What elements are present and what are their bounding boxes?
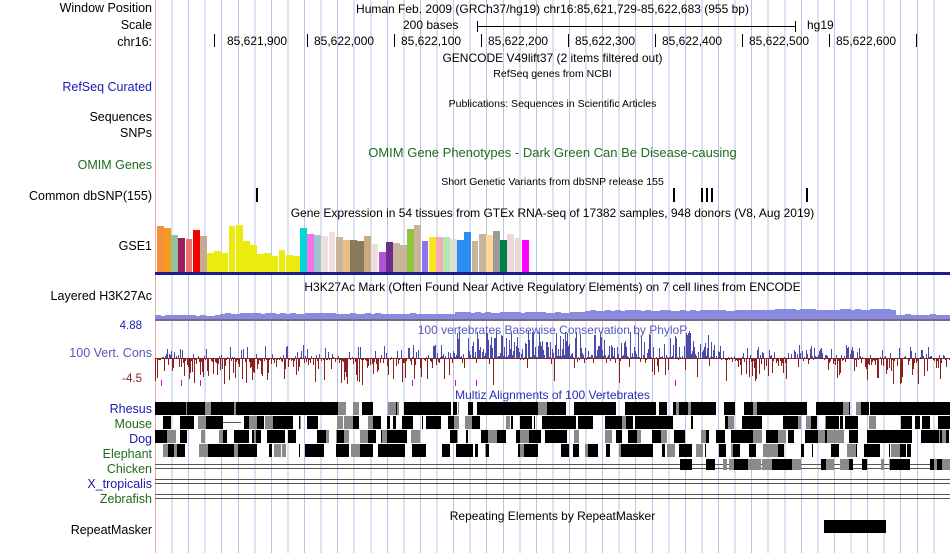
conservation-positive-bar	[514, 342, 515, 358]
conservation-negative-bar	[856, 358, 857, 367]
alignment-block	[907, 444, 911, 457]
track-title-dbsnp: Short Genetic Variants from dbSNP releas…	[155, 176, 950, 188]
alignment-block	[849, 402, 850, 415]
conservation-negative-bar	[229, 358, 230, 380]
gtex-tissue-bar[interactable]	[457, 240, 464, 272]
alignment-block	[324, 402, 331, 415]
gtex-tissue-bar[interactable]	[522, 240, 529, 272]
ruler-tick-label: 85,622,300	[575, 34, 635, 48]
conservation-negative-bar	[254, 358, 255, 373]
conservation-insert-mark	[181, 380, 182, 386]
conservation-positive-bar	[496, 331, 497, 358]
alignment-block	[706, 459, 715, 470]
gtex-tissue-bar[interactable]	[271, 256, 278, 272]
conservation-positive-bar	[802, 351, 803, 358]
conservation-negative-bar	[786, 358, 787, 379]
gtex-tissue-bar[interactable]	[164, 228, 171, 272]
conservation-negative-bar	[668, 358, 669, 370]
conservation-negative-bar	[173, 358, 174, 368]
conservation-positive-bar	[247, 347, 248, 358]
conservation-positive-bar	[506, 338, 507, 358]
conservation-positive-bar	[360, 347, 361, 358]
species-label-chicken[interactable]: Chicken	[2, 463, 152, 476]
alignment-block	[534, 416, 535, 429]
conservation-negative-bar	[213, 358, 214, 374]
alignment-block	[466, 430, 468, 443]
gtex-tissue-bar[interactable]	[243, 241, 250, 272]
gtex-tissue-bar[interactable]	[500, 240, 507, 272]
conservation-negative-bar	[222, 358, 223, 369]
alignment-block	[155, 430, 162, 443]
gtex-tissue-bar[interactable]	[336, 237, 343, 272]
conservation-negative-bar	[357, 358, 358, 381]
track-label-common-dbsnp[interactable]: Common dbSNP(155)	[2, 190, 152, 203]
alignment-block	[155, 402, 164, 415]
alignment-block	[360, 444, 369, 457]
conservation-positive-bar	[747, 348, 748, 358]
alignment-block	[630, 444, 639, 457]
conservation-negative-bar	[239, 358, 240, 367]
conservation-negative-bar	[946, 358, 947, 367]
multiz-species-row-x_tropicalis[interactable]	[155, 474, 950, 485]
gtex-tissue-bar[interactable]	[178, 238, 185, 272]
alignment-block	[384, 444, 392, 457]
gtex-tissue-bar[interactable]	[472, 241, 479, 272]
alignment-block	[915, 416, 920, 429]
gtex-tissue-bar[interactable]	[393, 243, 400, 272]
alignment-block	[511, 416, 513, 429]
conservation-positive-bar	[711, 342, 712, 358]
gtex-tissue-bar[interactable]	[307, 234, 314, 272]
multiz-species-row-rhesus[interactable]	[155, 402, 950, 415]
conservation-negative-bar	[208, 358, 209, 376]
conservation-positive-bar	[899, 348, 900, 358]
gtex-tissue-bar[interactable]	[329, 232, 336, 272]
track-title-publications: Publications: Sequences in Scientific Ar…	[155, 98, 950, 110]
gtex-tissue-bar[interactable]	[314, 235, 321, 272]
alignment-block	[466, 444, 473, 457]
scale-bar-line	[477, 26, 795, 27]
gtex-tissue-bar[interactable]	[386, 242, 393, 272]
conservation-negative-bar	[891, 358, 892, 371]
gtex-tissue-bar[interactable]	[293, 256, 300, 272]
species-label-dog[interactable]: Dog	[2, 433, 152, 446]
conservation-negative-bar	[421, 358, 422, 377]
conservation-positive-bar	[831, 349, 832, 358]
track-label-repeatmasker[interactable]: RepeatMasker	[2, 524, 152, 537]
repeatmasker-element[interactable]	[824, 520, 886, 533]
gtex-tissue-bar[interactable]	[300, 228, 307, 272]
alignment-block	[778, 444, 784, 457]
alignment-block	[447, 444, 450, 457]
alignment-block	[393, 416, 396, 429]
alignment-block	[849, 459, 853, 470]
gtex-tissue-bar[interactable]	[372, 244, 379, 272]
alignment-block	[613, 416, 622, 429]
gtex-tissue-bar[interactable]	[264, 253, 271, 272]
alignment-block	[723, 459, 727, 470]
alignment-block	[628, 430, 637, 443]
conservation-negative-bar	[658, 358, 659, 372]
alignment-block	[789, 402, 797, 415]
track-label-sequences[interactable]: Sequences	[2, 111, 152, 124]
conservation-insert-mark	[412, 380, 413, 386]
alignment-block	[605, 416, 613, 429]
alignment-block	[305, 444, 314, 457]
gtex-tissue-bar[interactable]	[515, 238, 522, 272]
scale-bar-right-cap	[795, 21, 796, 32]
alignment-block	[874, 444, 880, 457]
conservation-negative-bar	[262, 358, 263, 376]
conservation-negative-bar	[233, 358, 234, 373]
conservation-negative-bar	[181, 358, 182, 367]
ruler-tick-mark	[568, 34, 569, 47]
conservation-zero-line	[155, 358, 950, 359]
alignment-block	[163, 416, 171, 429]
species-label-mouse[interactable]: Mouse	[2, 418, 152, 431]
alignment-block	[529, 402, 538, 415]
gtex-tissue-bar[interactable]	[257, 254, 264, 272]
alignment-block	[661, 430, 667, 443]
gtex-tissue-bar[interactable]	[236, 225, 243, 272]
conservation-positive-bar	[676, 338, 677, 358]
gtex-tissue-bar[interactable]	[229, 226, 236, 272]
gtex-tissue-bar[interactable]	[200, 236, 207, 272]
conservation-negative-bar	[554, 358, 555, 381]
alignment-block	[867, 430, 875, 443]
alignment-block	[792, 459, 801, 470]
alignment-block	[892, 402, 899, 415]
conservation-insert-mark	[476, 380, 477, 386]
conservation-negative-bar	[168, 358, 169, 365]
conservation-positive-bar	[384, 346, 385, 358]
alignment-block	[835, 430, 844, 443]
alignment-block	[659, 402, 667, 415]
alignment-block	[714, 402, 716, 415]
gtex-tissue-bar[interactable]	[279, 250, 286, 272]
conservation-positive-bar	[708, 335, 709, 358]
alignment-block	[316, 416, 318, 429]
coordinate-gridlines	[155, 0, 950, 553]
alignment-block	[430, 416, 438, 429]
alignment-block	[294, 430, 296, 443]
conservation-negative-bar	[493, 358, 494, 385]
gtex-tissue-bar[interactable]	[186, 239, 193, 272]
gtex-tissue-bar[interactable]	[529, 261, 536, 272]
alignment-block	[422, 416, 423, 429]
conservation-positive-bar	[459, 332, 460, 358]
alignment-block	[926, 430, 935, 443]
ruler-tick-label: 85,621,900	[227, 34, 287, 48]
conservation-positive-bar	[473, 342, 474, 358]
gtex-tissue-bar[interactable]	[493, 231, 500, 272]
gtex-tissue-bar[interactable]	[414, 225, 421, 272]
ruler-tick-mark	[916, 34, 917, 47]
alignment-block	[397, 402, 399, 415]
conservation-negative-bar	[449, 358, 450, 375]
track-label-chrom: chr16:	[2, 36, 152, 49]
conservation-negative-bar	[393, 358, 394, 379]
coordinate-ruler[interactable]: 85,621,900 85,622,000 85,622,100 85,622,…	[155, 34, 950, 50]
ruler-tick-label: 85,622,000	[314, 34, 374, 48]
alignment-block	[803, 444, 804, 457]
alignment-block	[760, 459, 761, 470]
conservation-positive-bar	[303, 345, 304, 358]
alignment-block	[532, 444, 538, 457]
ruler-tick-mark	[214, 34, 215, 47]
gtex-tissue-bar[interactable]	[157, 226, 164, 272]
ruler-tick-label: 85,622,400	[662, 34, 722, 48]
conservation-positive-bar	[853, 351, 854, 358]
gtex-tissue-bar[interactable]	[379, 252, 386, 272]
alignment-block	[538, 402, 547, 415]
conservation-positive-bar	[435, 345, 436, 358]
conservation-negative-bar	[315, 358, 316, 382]
conservation-positive-bar	[650, 335, 651, 358]
multiz-species-row-chicken[interactable]	[155, 459, 950, 470]
species-label-rhesus[interactable]: Rhesus	[2, 403, 152, 416]
species-label-x-tropicalis[interactable]: X_tropicalis	[2, 478, 152, 491]
dbsnp-variant-tick[interactable]	[806, 188, 808, 202]
alignment-block	[626, 416, 633, 429]
alignment-block	[769, 444, 778, 457]
alignment-block	[468, 402, 473, 415]
gtex-tissue-bar[interactable]	[350, 240, 357, 272]
conservation-negative-bar	[685, 358, 686, 370]
track-label-refseq-curated[interactable]: RefSeq Curated	[2, 81, 152, 94]
alignment-block	[719, 444, 726, 457]
multiz-species-row-dog[interactable]	[155, 430, 950, 443]
gtex-tissue-bar[interactable]	[450, 239, 457, 272]
alignment-block	[367, 402, 373, 415]
conservation-negative-bar	[897, 358, 898, 366]
alignment-block	[847, 444, 856, 457]
conservation-insert-mark	[200, 380, 201, 386]
dbsnp-variant-tick[interactable]	[673, 188, 675, 202]
alignment-block	[180, 416, 188, 429]
track-label-snps[interactable]: SNPs	[2, 127, 152, 140]
alignment-block	[506, 416, 510, 429]
alignment-block	[753, 416, 762, 429]
gtex-tissue-bar[interactable]	[422, 241, 429, 272]
gtex-tissue-bar[interactable]	[443, 237, 450, 272]
alignment-block	[904, 459, 910, 470]
gtex-tissue-bar[interactable]	[207, 253, 214, 272]
alignment-block	[456, 402, 457, 415]
alignment-gap-line	[155, 483, 950, 484]
gtex-tissue-bar[interactable]	[364, 236, 371, 272]
conservation-positive-bar	[673, 345, 674, 358]
alignment-block	[431, 402, 440, 415]
conservation-positive-bar	[653, 347, 654, 358]
conservation-positive-bar	[560, 336, 561, 358]
conservation-positive-bar	[492, 348, 493, 358]
alignment-block	[826, 459, 833, 470]
conservation-positive-bar	[307, 349, 308, 358]
gtex-tissue-bar[interactable]	[486, 235, 493, 272]
conservation-negative-bar	[918, 358, 919, 384]
conservation-positive-bar	[480, 347, 481, 358]
alignment-block	[734, 459, 743, 470]
alignment-block	[201, 430, 205, 443]
alignment-block	[899, 402, 907, 415]
alignment-block	[818, 430, 825, 443]
conservation-negative-bar	[527, 358, 528, 368]
alignment-block	[559, 430, 567, 443]
gtex-expression-barchart[interactable]	[155, 220, 950, 275]
alignment-block	[891, 444, 900, 457]
gtex-tissue-bar[interactable]	[214, 251, 221, 272]
dbsnp-variant-tick[interactable]	[706, 188, 708, 202]
multiz-species-row-elephant[interactable]	[155, 444, 950, 457]
species-label-zebrafish[interactable]: Zebrafish	[2, 493, 152, 506]
alignment-block	[935, 402, 944, 415]
alignment-block	[321, 444, 324, 457]
conservation-negative-bar	[887, 358, 888, 370]
alignment-block	[609, 402, 616, 415]
conservation-negative-bar	[324, 358, 325, 380]
alignment-block	[398, 444, 405, 457]
repeatmasker-track[interactable]	[155, 520, 950, 534]
alignment-block	[542, 416, 549, 429]
alignment-block	[273, 402, 282, 415]
dbsnp-variant-tick[interactable]	[256, 188, 258, 202]
gtex-tissue-bar[interactable]	[436, 237, 443, 272]
alignment-block	[616, 430, 622, 443]
gtex-tissue-bar[interactable]	[193, 230, 200, 272]
gtex-tissue-bar[interactable]	[250, 245, 257, 272]
multiz-species-row-zebrafish[interactable]	[155, 489, 950, 500]
conservation-negative-bar	[798, 358, 799, 367]
genome-browser[interactable]: Window Position Scale chr16: RefSeq Cura…	[0, 0, 950, 553]
track-label-omim-genes[interactable]: OMIM Genes	[2, 159, 152, 172]
track-label-layered-h3k27ac[interactable]: Layered H3K27Ac	[2, 290, 152, 303]
gtex-tissue-bar[interactable]	[221, 253, 228, 272]
gtex-tissue-bar[interactable]	[429, 237, 436, 272]
multiz-species-row-mouse[interactable]	[155, 416, 950, 429]
conservation-negative-bar	[629, 358, 630, 367]
alignment-block	[811, 430, 818, 443]
conservation-positive-bar	[670, 338, 671, 358]
track-label-scale[interactable]: Scale	[2, 19, 152, 32]
track-label-100-vert-cons[interactable]: 100 Vert. Cons	[2, 347, 152, 360]
alignment-block	[520, 430, 529, 443]
alignment-block	[338, 402, 346, 415]
gtex-tissue-bar[interactable]	[507, 234, 514, 272]
alignment-gap-line	[155, 479, 950, 480]
gtex-tissue-bar[interactable]	[357, 241, 364, 272]
alignment-block	[679, 444, 686, 457]
alignment-block	[786, 416, 795, 429]
dbsnp-variant-tick[interactable]	[701, 188, 703, 202]
alignment-gap-line	[155, 498, 950, 499]
alignment-block	[856, 444, 857, 457]
species-label-elephant[interactable]: Elephant	[2, 448, 152, 461]
conservation-positive-bar	[641, 336, 642, 358]
conservation-negative-bar	[155, 358, 156, 381]
alignment-block	[488, 430, 497, 443]
alignment-block	[797, 402, 806, 415]
conservation-negative-bar	[881, 358, 882, 365]
alignment-block	[475, 444, 478, 457]
alignment-block	[671, 416, 673, 429]
conservation-negative-bar	[756, 358, 757, 379]
conservation-positive-bar	[684, 346, 685, 358]
conservation-negative-bar	[388, 358, 389, 375]
conservation-negative-bar	[938, 358, 939, 368]
alignment-block	[734, 444, 740, 457]
gtex-tissue-bar[interactable]	[343, 240, 350, 272]
alignment-block	[214, 416, 221, 429]
scale-bar-left-cap	[477, 21, 478, 32]
gtex-tissue-bar[interactable]	[407, 229, 414, 272]
alignment-block	[772, 402, 781, 415]
conservation-negative-bar	[709, 358, 710, 366]
track-label-gse1[interactable]: GSE1	[2, 240, 152, 253]
conservation-negative-bar	[878, 358, 879, 378]
alignment-block	[337, 416, 343, 429]
gtex-tissue-bar[interactable]	[321, 236, 328, 272]
alignment-block	[601, 402, 609, 415]
conservation-negative-bar	[179, 358, 180, 367]
track-title-multiz: Multiz Alignments of 100 Vertebrates	[155, 388, 950, 402]
alignment-block	[833, 416, 839, 429]
assembly-position-header: Human Feb. 2009 (GRCh37/hg19) chr16:85,6…	[155, 2, 950, 16]
conservation-insert-mark	[161, 380, 162, 386]
conservation-positive-bar	[630, 332, 631, 358]
conservation-positive-bar	[325, 348, 326, 358]
alignment-block	[342, 444, 349, 457]
conservation-negative-bar	[746, 358, 747, 374]
alignment-block	[281, 430, 285, 443]
gtex-tissue-bar[interactable]	[464, 232, 471, 272]
alignment-block	[814, 416, 817, 429]
conservation-negative-bar	[368, 358, 369, 366]
conservation-positive-bar	[614, 348, 615, 358]
conservation-negative-bar	[927, 358, 928, 371]
alignment-block	[337, 430, 344, 443]
conservation-insert-mark	[675, 380, 676, 386]
conservation-positive-bar	[358, 347, 359, 358]
conservation-positive-bar	[522, 349, 523, 358]
conservation-negative-bar	[619, 358, 620, 383]
dbsnp-variant-track[interactable]	[155, 188, 950, 202]
alignment-block	[781, 402, 789, 415]
alignment-block	[681, 430, 685, 443]
alignment-block	[854, 430, 858, 443]
alignment-block	[621, 444, 630, 457]
gtex-tissue-bar[interactable]	[400, 245, 407, 272]
gtex-tissue-bar[interactable]	[479, 234, 486, 272]
conservation-positive-bar	[585, 348, 586, 358]
alignment-block	[831, 444, 839, 457]
conservation-negative-bar	[411, 358, 412, 365]
gtex-tissue-bar[interactable]	[171, 235, 178, 272]
alignment-block	[637, 430, 641, 443]
dbsnp-variant-tick[interactable]	[711, 188, 713, 202]
alignment-block	[561, 444, 569, 457]
conservation-positive-bar	[230, 347, 231, 358]
conservation-negative-bar	[902, 358, 903, 377]
gtex-tissue-bar[interactable]	[286, 255, 293, 272]
alignment-block	[248, 444, 257, 457]
alignment-block	[701, 402, 710, 415]
alignment-block	[405, 416, 413, 429]
conservation-negative-bar	[427, 358, 428, 379]
alignment-block	[798, 416, 801, 429]
track-label-window-position[interactable]: Window Position	[2, 2, 152, 15]
conservation-negative-bar	[768, 358, 769, 376]
